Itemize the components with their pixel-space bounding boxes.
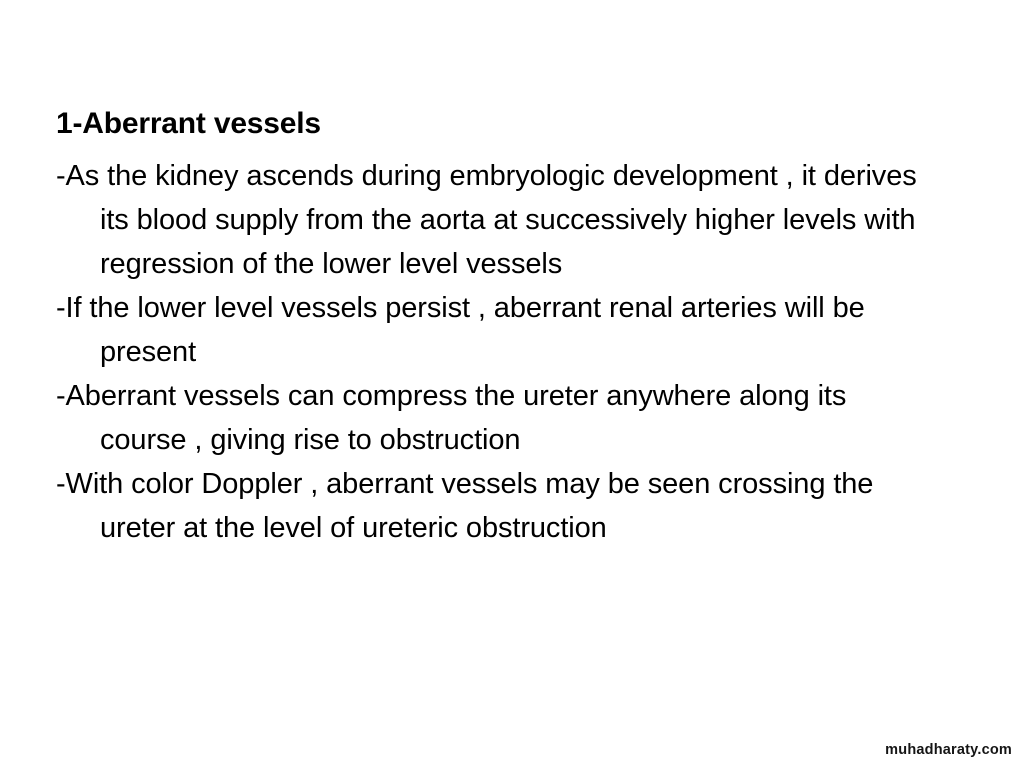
list-item: -With color Doppler , aberrant vessels m…: [56, 462, 936, 550]
list-item: -Aberrant vessels can compress the urete…: [56, 374, 936, 462]
slide-canvas: 1-Aberrant vessels -As the kidney ascend…: [0, 0, 1024, 768]
bullet-list: -As the kidney ascends during embryologi…: [56, 154, 936, 550]
list-item: -If the lower level vessels persist , ab…: [56, 286, 936, 374]
page-title: 1-Aberrant vessels: [56, 102, 936, 146]
slide-content: 1-Aberrant vessels -As the kidney ascend…: [56, 102, 936, 550]
list-item: -As the kidney ascends during embryologi…: [56, 154, 936, 286]
watermark: muhadharaty.com: [885, 742, 1012, 758]
